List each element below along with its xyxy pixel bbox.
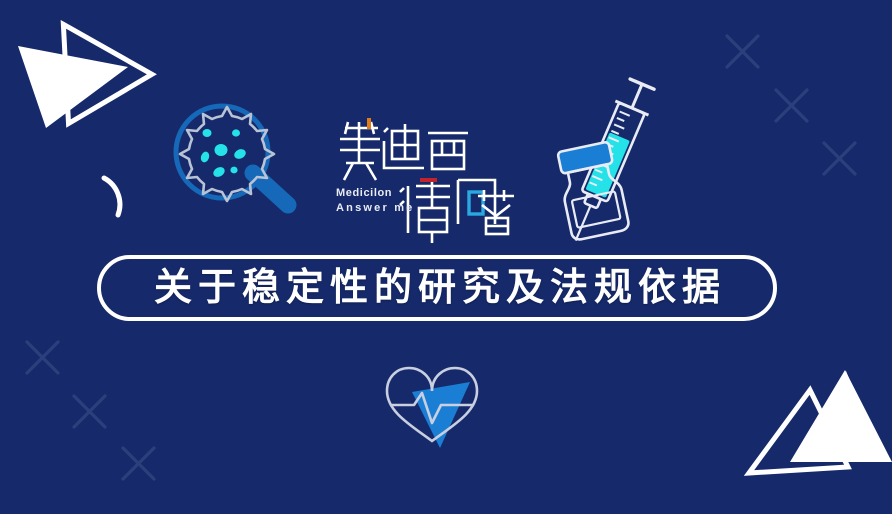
page-title: 关于稳定性的研究及法规依据 [148, 269, 726, 307]
title-pill: 关于稳定性的研究及法规依据 [97, 255, 777, 321]
logo-char-xi [428, 133, 468, 169]
logo-char-mei [340, 122, 380, 180]
banner-root: Medicilon Answer me 关于稳定性的研究及法规依据 [0, 0, 892, 514]
logo-char-di [384, 124, 424, 168]
logo-english-line1: Medicilon [336, 186, 456, 201]
logo-english-text: Medicilon Answer me [336, 186, 456, 216]
logo-english-line2: Answer me [336, 201, 456, 216]
